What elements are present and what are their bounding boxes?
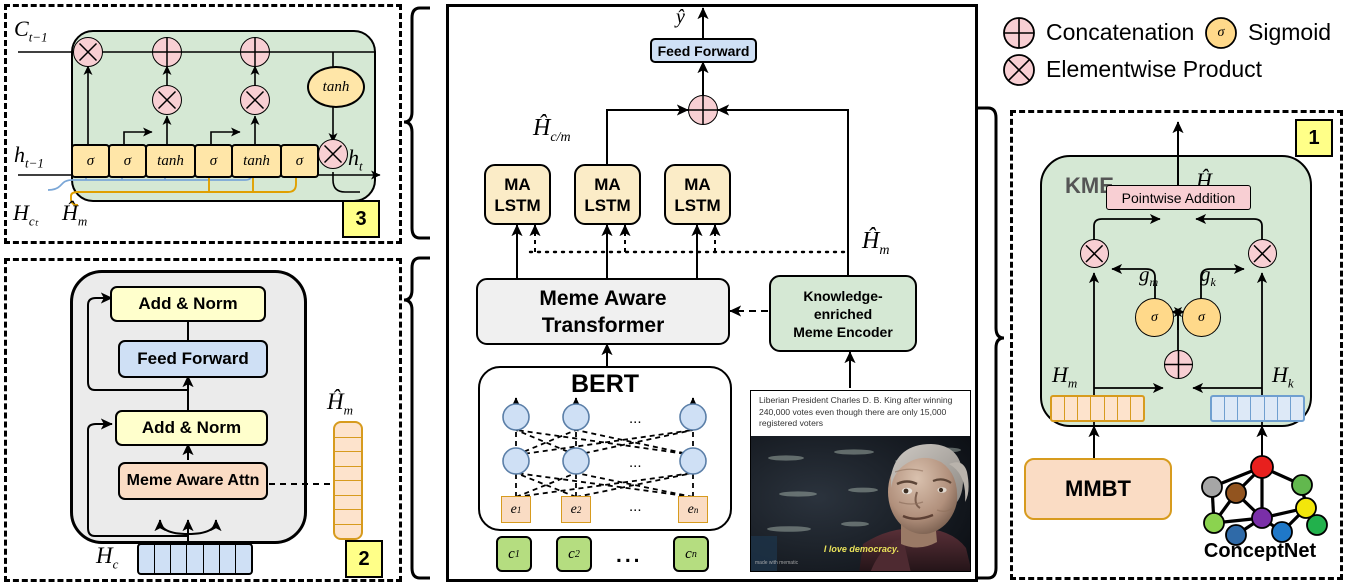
elementwise-product-icon xyxy=(318,139,348,169)
elementwise-product-icon xyxy=(1004,55,1034,85)
label-hidden-prev: ht−1 xyxy=(14,142,44,171)
meme-caption: Liberian President Charles D. B. King af… xyxy=(751,391,971,434)
add-norm-top: Add & Norm xyxy=(110,286,266,322)
embedding-ellipsis: ... xyxy=(629,498,642,515)
embedding-e1: e1 xyxy=(501,496,531,523)
token-ellipsis: ... xyxy=(616,544,643,568)
encoder-line3: Meme Encoder xyxy=(793,323,893,341)
bert-node-ellipsis-2: ... xyxy=(629,454,642,471)
conceptnet-graph xyxy=(1190,445,1325,540)
bert-title: BERT xyxy=(478,370,732,399)
tanh-label: tanh xyxy=(323,79,350,96)
panel-3-badge: 3 xyxy=(342,200,380,238)
hm-hat-vector xyxy=(333,421,363,540)
panel-2-badge: 2 xyxy=(345,540,383,578)
label-hk-kme: Hk xyxy=(1272,362,1294,391)
label-gate-m: gm xyxy=(1139,262,1158,290)
ma-lstm-2-line2: LSTM xyxy=(584,195,630,216)
label-input-hm: Ĥm xyxy=(62,200,87,229)
pointwise-addition-block: Pointwise Addition xyxy=(1106,185,1251,210)
label-hc: Hc xyxy=(96,543,118,573)
hm-vector xyxy=(1050,395,1145,422)
ma-lstm-2: MA LSTM xyxy=(574,164,641,225)
embedding-e2: e2 xyxy=(561,496,591,523)
meme-aware-attn-block: Meme Aware Attn xyxy=(118,462,268,500)
transformer-line1: Meme Aware xyxy=(539,285,666,312)
token-cn: cn xyxy=(673,536,709,572)
center-feed-forward: Feed Forward xyxy=(650,38,757,63)
legend-label-elementwise: Elementwise Product xyxy=(1046,56,1262,83)
elementwise-product-icon xyxy=(152,85,182,115)
gate-tanh-1: tanh xyxy=(145,144,196,178)
concatenation-icon xyxy=(152,37,182,67)
ma-lstm-2-line1: MA xyxy=(594,174,620,195)
hk-vector xyxy=(1210,395,1305,422)
meme-sample: Liberian President Charles D. B. King af… xyxy=(750,390,971,572)
feed-forward-block: Feed Forward xyxy=(118,340,268,378)
encoder-line1: Knowledge- xyxy=(803,287,882,305)
ma-lstm-3-line1: MA xyxy=(684,174,710,195)
label-y-hat: ŷ xyxy=(676,6,685,29)
gate-sigma-2: σ xyxy=(108,144,147,178)
legend-label-sigmoid: Sigmoid xyxy=(1248,19,1331,46)
add-norm-bottom: Add & Norm xyxy=(115,410,268,446)
meme-subtitle: I love democracy. xyxy=(751,544,971,554)
concatenation-icon xyxy=(1164,350,1193,379)
label-hm-hat-center: Ĥm xyxy=(862,228,889,259)
label-hm-kme: Hm xyxy=(1052,362,1077,391)
ma-lstm-1: MA LSTM xyxy=(484,164,551,225)
elementwise-product-icon xyxy=(1248,239,1277,268)
token-c1: c1 xyxy=(496,536,532,572)
elementwise-product-icon xyxy=(240,85,270,115)
label-hcm-hat: Ĥc/m xyxy=(533,115,571,146)
gate-sigma-4: σ xyxy=(280,144,319,178)
bert-node-ellipsis-1: ... xyxy=(629,410,642,427)
meme-aware-transformer: Meme Aware Transformer xyxy=(476,278,730,345)
concatenation-icon xyxy=(1004,18,1034,48)
knowledge-enriched-meme-encoder: Knowledge- enriched Meme Encoder xyxy=(769,275,917,352)
meme-watermark: made with mematic xyxy=(755,560,798,566)
encoder-line2: enriched xyxy=(814,305,872,323)
meme-photo: I love democracy. made with mematic xyxy=(751,436,971,572)
label-hidden-out: ht xyxy=(348,145,363,174)
gate-tanh-2: tanh xyxy=(231,144,282,178)
ma-lstm-3: MA LSTM xyxy=(664,164,731,225)
tanh-output-node: tanh xyxy=(307,66,365,108)
label-hm-hat-panel2: Ĥm xyxy=(327,389,353,419)
panel-1-badge: 1 xyxy=(1295,119,1333,157)
legend-sigma-glyph: σ xyxy=(1213,24,1229,42)
concatenation-icon xyxy=(688,95,718,125)
sigmoid-icon-m: σ xyxy=(1135,298,1174,337)
label-input-hc: Hcₜ xyxy=(13,200,39,229)
gate-sigma-3: σ xyxy=(194,144,233,178)
elementwise-product-icon xyxy=(73,37,103,67)
label-gate-k: gk xyxy=(1200,262,1216,290)
gate-sigma-1: σ xyxy=(71,144,110,178)
sigmoid-icon-k: σ xyxy=(1182,298,1221,337)
ma-lstm-1-line2: LSTM xyxy=(494,195,540,216)
legend-label-concatenation: Concatenation xyxy=(1046,19,1194,46)
concatenation-icon xyxy=(240,37,270,67)
ma-lstm-1-line1: MA xyxy=(504,174,530,195)
label-cell-prev: Ct−1 xyxy=(14,16,48,45)
hc-vector xyxy=(137,543,253,575)
embedding-en: en xyxy=(678,496,708,523)
conceptnet-label: ConceptNet xyxy=(1190,540,1330,563)
legend: σ Concatenation Sigmoid Elementwise Prod… xyxy=(1000,8,1349,90)
token-c2: c2 xyxy=(556,536,592,572)
elementwise-product-icon xyxy=(1080,239,1109,268)
transformer-line2: Transformer xyxy=(542,312,665,339)
ma-lstm-3-line2: LSTM xyxy=(674,195,720,216)
mmbt-block: MMBT xyxy=(1024,458,1172,520)
